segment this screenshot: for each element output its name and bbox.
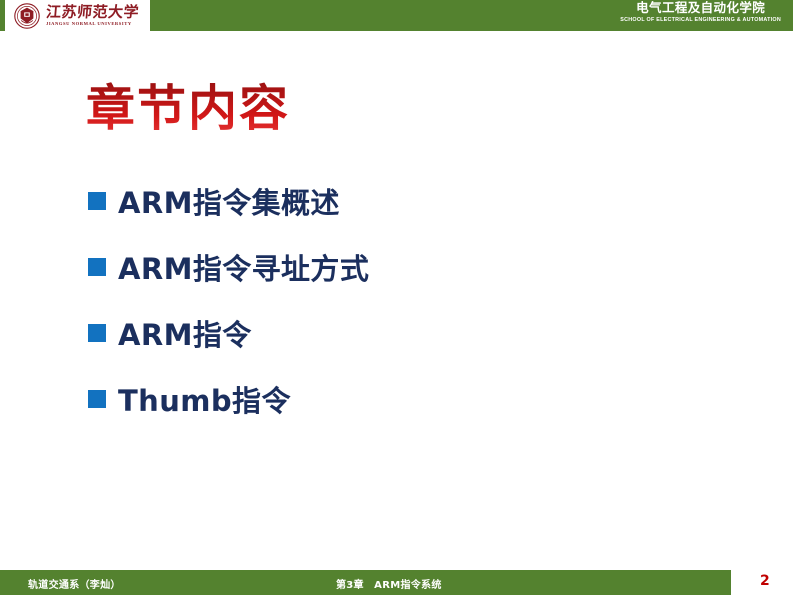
university-wordmark: 江苏师范大学 JIANGSU NORMAL UNIVERSITY <box>46 5 139 27</box>
square-bullet-icon <box>88 324 106 342</box>
university-logo: 江苏师范大学 JIANGSU NORMAL UNIVERSITY <box>5 0 150 31</box>
list-item[interactable]: ARM指令寻址方式 <box>88 234 728 300</box>
list-item-label: ARM指令集概述 <box>118 180 340 222</box>
department-name-en: SCHOOL OF ELECTRICAL ENGINEERING & AUTOM… <box>620 18 781 23</box>
list-item[interactable]: Thumb指令 <box>88 366 728 432</box>
department-name-cn: 电气工程及自动化学院 <box>620 2 781 15</box>
list-item-label: ARM指令寻址方式 <box>118 246 369 288</box>
square-bullet-icon <box>88 192 106 210</box>
university-name-cn: 江苏师范大学 <box>45 5 139 20</box>
list-item-label: Thumb指令 <box>118 378 291 420</box>
department-title: 电气工程及自动化学院 SCHOOL OF ELECTRICAL ENGINEER… <box>620 2 781 23</box>
outline-list: ARM指令集概述 ARM指令寻址方式 ARM指令 Thumb指令 <box>88 168 728 432</box>
slide-canvas: 江苏师范大学 JIANGSU NORMAL UNIVERSITY 电气工程及自动… <box>0 0 793 595</box>
page-title: 章节内容 <box>86 82 290 136</box>
footer-author: 轨道交通系（李灿） <box>28 576 121 591</box>
footer-chapter: 第3章 ARM指令系统 <box>336 576 442 591</box>
list-item[interactable]: ARM指令集概述 <box>88 168 728 234</box>
square-bullet-icon <box>88 390 106 408</box>
square-bullet-icon <box>88 258 106 276</box>
page-number: 2 <box>760 573 770 589</box>
list-item-label: ARM指令 <box>118 312 252 354</box>
university-crest-icon <box>14 3 40 29</box>
university-name-en: JIANGSU NORMAL UNIVERSITY <box>46 22 139 27</box>
list-item[interactable]: ARM指令 <box>88 300 728 366</box>
